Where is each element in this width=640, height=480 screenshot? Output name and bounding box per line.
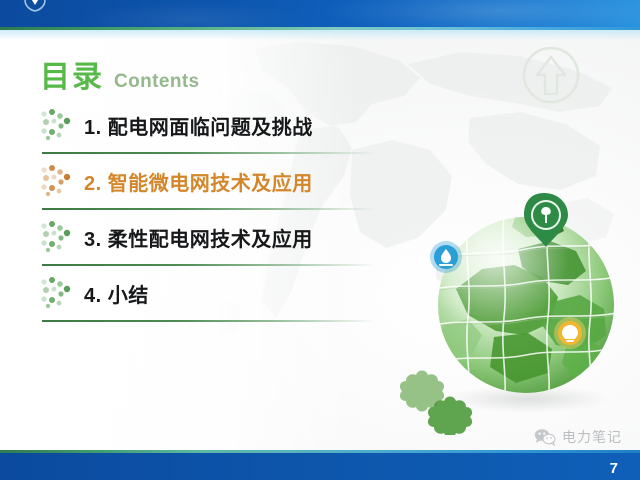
contents-item-label: 2. 智能微电网技术及应用	[84, 167, 313, 196]
circle-up-arrow-icon	[520, 44, 582, 106]
page-title: 目录 Contents	[40, 52, 200, 96]
bottom-bar	[0, 453, 640, 480]
wechat-icon	[534, 428, 556, 446]
bulb-badge-marker	[554, 317, 586, 349]
dot-chevron-green-icon	[38, 108, 78, 142]
page-number: 7	[610, 460, 618, 477]
contents-item-3[interactable]: 3. 柔性配电网技术及应用	[38, 212, 398, 268]
contents-item-underline	[42, 320, 376, 322]
contents-item-1[interactable]: 1. 配电网面临问题及挑战	[38, 100, 398, 156]
contents-item-2[interactable]: 2. 智能微电网技术及应用	[38, 156, 398, 212]
dot-chevron-green-icon	[38, 220, 78, 254]
top-bar	[0, 0, 640, 27]
contents-item-label: 3. 柔性配电网技术及应用	[84, 223, 313, 252]
contents-item-label: 1. 配电网面临问题及挑战	[84, 111, 313, 140]
slide-canvas: 目录 Contents	[0, 0, 640, 480]
contents-item-label: 4. 小结	[84, 279, 149, 308]
watermark-text: 电力笔记	[562, 427, 622, 447]
page-title-cn: 目录	[40, 52, 104, 96]
page-title-en: Contents	[114, 71, 200, 93]
contents-item-4[interactable]: 4. 小结	[38, 268, 398, 324]
top-accent-glow	[0, 30, 640, 40]
shield-logo-icon	[22, 0, 48, 13]
contents-item-underline	[42, 264, 376, 266]
contents-item-underline	[42, 152, 376, 154]
contents-list: 1. 配电网面临问题及挑战	[38, 100, 398, 324]
wechat-watermark: 电力笔记	[534, 427, 622, 447]
water-pin-marker	[430, 241, 462, 273]
dot-chevron-green-icon	[38, 276, 78, 310]
green-puzzle-globe	[398, 185, 640, 435]
contents-item-underline	[42, 208, 376, 210]
top-bar-texture	[0, 0, 640, 27]
dot-chevron-orange-icon	[38, 164, 78, 198]
